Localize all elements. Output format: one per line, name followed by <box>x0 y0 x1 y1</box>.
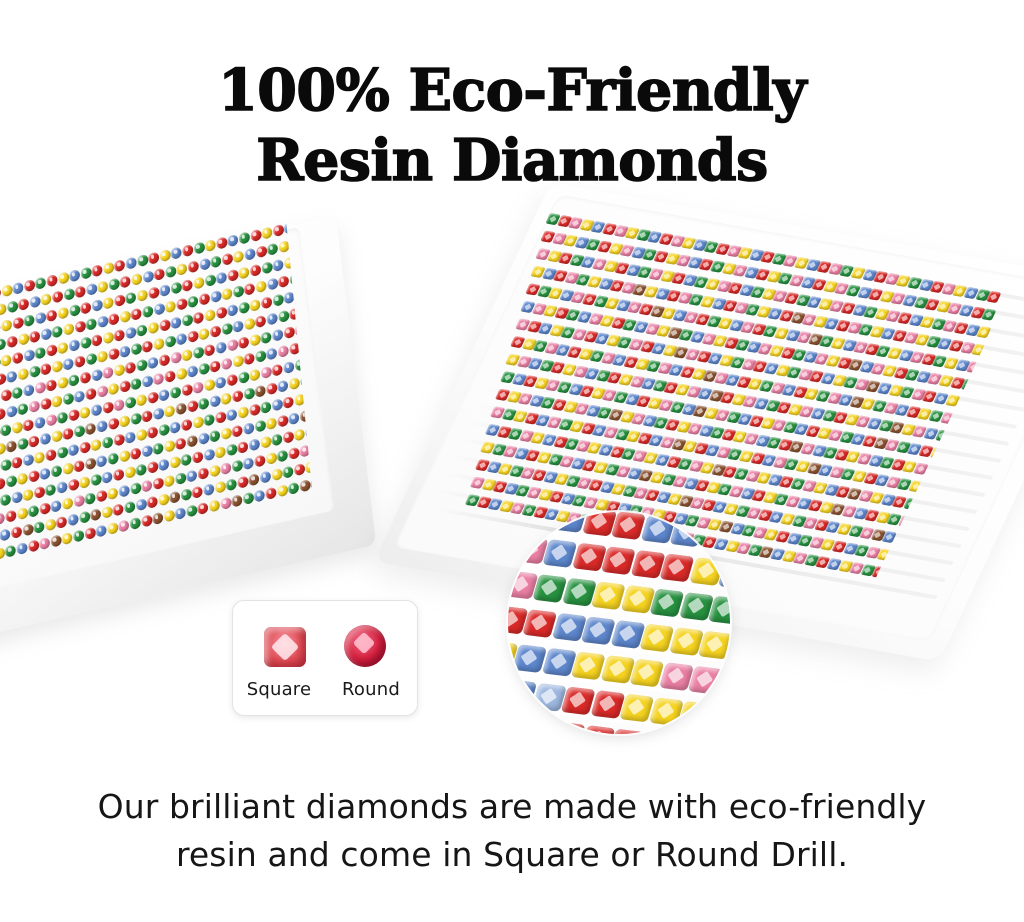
drill-bead <box>101 471 113 484</box>
drill-bead <box>85 318 97 331</box>
drill-bead <box>243 457 255 470</box>
drill-bead <box>294 428 306 441</box>
drill-bead <box>226 408 238 421</box>
drill-bead <box>147 461 159 474</box>
drill-bead <box>124 466 136 479</box>
drill-bead <box>266 313 278 326</box>
drill-bead <box>11 386 23 399</box>
drill-bead <box>192 486 204 499</box>
drill-bead <box>45 449 57 462</box>
magnified-drill-bead <box>709 512 730 516</box>
drill-bead <box>232 425 244 438</box>
drill-bead <box>125 361 137 374</box>
drill-bead <box>96 490 108 503</box>
drill-bead <box>142 340 154 353</box>
drill-bead <box>33 486 45 499</box>
drill-bead <box>0 528 11 541</box>
drill-bead <box>204 274 216 287</box>
drill-bead <box>67 478 79 491</box>
drill-bead <box>40 293 52 306</box>
drill-bead <box>147 391 159 404</box>
drill-bead <box>85 388 97 401</box>
drill-bead <box>248 438 260 451</box>
drill-bead <box>129 517 141 530</box>
drill-bead <box>84 457 96 470</box>
drill-bead <box>91 299 103 312</box>
drill-bead <box>192 381 204 394</box>
drill-bead <box>203 483 215 496</box>
drill-bead <box>141 514 153 527</box>
drill-bead <box>73 425 85 438</box>
drill-bead <box>96 455 108 468</box>
drill-bead <box>120 275 132 288</box>
drill-bead <box>130 378 142 391</box>
drill-bead <box>278 310 290 323</box>
drill-bead <box>69 304 81 317</box>
drill-bead <box>23 314 35 327</box>
drill-bead <box>221 392 233 405</box>
drill-bead <box>136 359 148 372</box>
drill-bead <box>243 387 255 400</box>
drill-bead <box>17 368 29 381</box>
drill-bead <box>158 424 170 437</box>
drill-bead <box>215 341 227 354</box>
drill-bead <box>50 500 62 513</box>
drill-bead <box>187 330 199 343</box>
drill-bead <box>57 411 69 424</box>
drill-bead <box>237 441 249 454</box>
drill-bead <box>22 454 34 467</box>
drill-bead <box>176 263 188 276</box>
drill-bead <box>135 463 147 476</box>
drill-bead <box>0 303 7 316</box>
drill-bead <box>125 292 137 305</box>
drill-bead <box>29 330 41 343</box>
drill-bead <box>153 407 165 420</box>
drill-bead <box>17 403 29 416</box>
drill-bead <box>130 343 142 356</box>
legend-round-column <box>327 625 403 667</box>
caption-line-1: Our brilliant diamonds are made with eco… <box>0 783 1024 831</box>
drill-bead <box>91 264 103 277</box>
drill-bead <box>85 422 97 435</box>
drill-bead <box>181 453 193 466</box>
drill-bead <box>181 314 193 327</box>
drill-bead <box>90 439 102 452</box>
drill-bead <box>147 356 159 369</box>
drill-bead <box>125 257 137 270</box>
drill-bead <box>238 266 250 279</box>
magnified-drill-bead <box>551 722 586 734</box>
drill-bead <box>266 347 278 360</box>
drill-bead <box>107 452 119 465</box>
drill-bead <box>18 298 30 311</box>
magnified-drill-bead <box>532 574 567 603</box>
drill-bead <box>16 542 28 555</box>
drill-bead <box>272 294 284 307</box>
drill-bead <box>176 298 188 311</box>
drill-bead <box>131 308 143 321</box>
drill-bead <box>249 299 261 312</box>
drill-bead <box>238 301 250 314</box>
magnified-drill-bead <box>669 519 704 548</box>
drill-bead <box>220 497 232 510</box>
drill-bead <box>96 385 108 398</box>
drill-bead <box>266 278 278 291</box>
drill-bead <box>22 489 34 502</box>
drill-bead <box>136 324 148 337</box>
drill-bead <box>11 526 23 539</box>
drill-bead <box>68 409 80 422</box>
drill-bead <box>33 521 45 534</box>
drill-bead <box>51 325 63 338</box>
drill-bead <box>11 421 23 434</box>
drill-bead <box>158 389 170 402</box>
drill-bead <box>152 442 164 455</box>
drill-bead <box>210 290 222 303</box>
magnified-drill-bead <box>678 701 713 730</box>
drill-bead <box>78 511 90 524</box>
drill-bead <box>239 232 251 245</box>
drill-bead <box>255 280 267 293</box>
drill-bead <box>39 432 51 445</box>
drill-bead <box>107 417 119 430</box>
drill-bead <box>197 502 209 515</box>
drill-bead <box>39 537 51 550</box>
drill-bead <box>283 361 295 374</box>
drill-bead <box>220 462 232 475</box>
drill-bead <box>113 399 125 412</box>
drill-bead <box>244 283 256 296</box>
drill-bead <box>0 354 12 367</box>
drill-bead <box>176 333 188 346</box>
drill-bead <box>51 430 63 443</box>
drill-bead <box>0 459 12 472</box>
drill-bead <box>198 432 210 445</box>
drill-bead <box>210 255 222 268</box>
drill-bead <box>233 250 245 263</box>
magnified-drill-bead <box>698 631 730 660</box>
drill-bead <box>152 512 164 525</box>
drill-bead <box>34 347 46 360</box>
drill-bead <box>45 414 57 427</box>
drill-bead <box>5 440 17 453</box>
drill-bead <box>231 460 243 473</box>
drill-bead <box>255 315 267 328</box>
drill-bead <box>23 279 35 292</box>
drill-bead <box>193 346 205 359</box>
drill-bead <box>197 467 209 480</box>
magnified-drill-bead <box>639 624 674 653</box>
drill-bead <box>214 481 226 494</box>
drill-bead <box>0 477 6 490</box>
drill-bead <box>267 243 279 256</box>
drill-bead <box>67 513 79 526</box>
drill-bead <box>204 379 216 392</box>
drill-bead <box>238 336 250 349</box>
drill-bead <box>215 306 227 319</box>
drill-bead <box>57 376 69 389</box>
drill-bead <box>187 295 199 308</box>
drill-bead <box>265 452 277 465</box>
drill-bead <box>203 414 215 427</box>
drill-bead <box>91 369 103 382</box>
drill-bead <box>45 484 57 497</box>
drill-bead <box>175 472 187 485</box>
drill-bead <box>0 408 6 421</box>
drill-bead <box>277 380 289 393</box>
drill-bead <box>16 507 28 520</box>
drill-bead <box>124 501 136 514</box>
drill-bead <box>69 269 81 282</box>
drill-bead <box>192 416 204 429</box>
drill-bead <box>74 390 86 403</box>
drill-bead <box>124 431 136 444</box>
drill-bead <box>169 421 181 434</box>
magnified-drill-closeup <box>508 512 730 734</box>
legend-label-round: Round <box>333 679 409 700</box>
drill-bead <box>255 350 267 363</box>
drill-bead <box>237 476 249 489</box>
drill-bead <box>136 289 148 302</box>
drill-bead <box>86 283 98 296</box>
drill-bead <box>73 530 85 543</box>
magnified-drill-rows <box>508 512 730 734</box>
drill-bead <box>250 264 262 277</box>
drill-bead <box>271 433 283 446</box>
drill-bead <box>227 269 239 282</box>
drill-bead <box>57 342 69 355</box>
drill-bead <box>118 450 130 463</box>
legend-label-square: Square <box>241 679 317 700</box>
drill-bead <box>108 348 120 361</box>
drill-bead <box>243 422 255 435</box>
drill-bead <box>261 296 273 309</box>
headline-line-2: Resin Diamonds <box>0 126 1024 196</box>
drill-bead <box>101 506 113 519</box>
drill-bead <box>250 229 262 242</box>
drill-bead <box>68 444 80 457</box>
drill-bead <box>233 285 245 298</box>
drill-bead <box>283 326 295 339</box>
drill-bead <box>260 401 272 414</box>
magnified-drill-bead <box>581 616 616 645</box>
drill-bead <box>193 277 205 290</box>
drill-bead <box>131 273 143 286</box>
drill-bead <box>79 441 91 454</box>
drill-bead <box>113 364 125 377</box>
drill-bead <box>163 509 175 522</box>
drill-bead <box>45 518 57 531</box>
drill-bead <box>243 352 255 365</box>
drill-bead <box>118 485 130 498</box>
magnified-drill-bead <box>629 659 664 688</box>
drill-bead <box>226 374 238 387</box>
drill-bead <box>102 331 114 344</box>
drill-bead <box>182 279 194 292</box>
drill-bead <box>11 491 23 504</box>
drill-bead <box>90 508 102 521</box>
magnified-drill-bead <box>688 666 723 695</box>
drill-bead <box>102 297 114 310</box>
drill-bead <box>28 435 40 448</box>
drill-bead <box>164 440 176 453</box>
drill-bead <box>244 248 256 261</box>
drill-bead <box>114 294 126 307</box>
drill-bead <box>61 532 73 545</box>
drill-bead <box>147 426 159 439</box>
drill-bead <box>119 310 131 323</box>
drill-bead <box>204 344 216 357</box>
drill-bead <box>40 363 52 376</box>
drill-bead <box>181 419 193 432</box>
drill-bead <box>282 431 294 444</box>
drill-bead <box>244 318 256 331</box>
drill-bead <box>0 338 7 351</box>
drill-bead <box>164 405 176 418</box>
drill-bead <box>187 365 199 378</box>
caption-text: Our brilliant diamonds are made with eco… <box>0 783 1024 879</box>
magnified-drill-bead <box>571 651 606 680</box>
magnified-drill-bead <box>649 589 684 618</box>
magnified-drill-bead <box>591 581 626 610</box>
left-tray-photo <box>0 268 362 598</box>
drill-bead <box>216 237 228 250</box>
drill-bead <box>142 270 154 283</box>
drill-bead <box>282 466 294 479</box>
drill-bead <box>260 366 272 379</box>
drill-bead <box>261 261 273 274</box>
drill-bead <box>294 463 306 476</box>
drill-bead <box>35 277 47 290</box>
drill-bead <box>23 384 35 397</box>
drill-bead <box>34 381 46 394</box>
drill-bead <box>180 488 192 501</box>
drill-bead <box>51 360 63 373</box>
headline-line-1: 100% Eco-Friendly <box>0 56 1024 126</box>
drill-bead <box>271 398 283 411</box>
drill-bead <box>154 268 166 281</box>
drill-bead <box>169 456 181 469</box>
drill-bead <box>57 307 69 320</box>
drill-bead <box>221 288 233 301</box>
drill-bead <box>62 497 74 510</box>
drill-bead <box>91 334 103 347</box>
drill-bead <box>6 300 18 313</box>
drill-bead <box>199 258 211 271</box>
drill-bead <box>192 451 204 464</box>
drill-bead <box>265 487 277 500</box>
drill-bead <box>146 496 158 509</box>
drill-bead <box>84 527 96 540</box>
drill-bead <box>107 522 119 535</box>
drill-bead <box>5 510 17 523</box>
drill-bead <box>29 295 41 308</box>
drill-bead <box>125 326 137 339</box>
drill-bead <box>186 435 198 448</box>
drill-bead <box>288 482 300 495</box>
drill-bead <box>6 370 18 383</box>
drill-bead <box>170 351 182 364</box>
drill-bead <box>159 319 171 332</box>
drill-bead <box>73 460 85 473</box>
drill-bead <box>12 282 24 295</box>
drill-bead <box>164 370 176 383</box>
caption-line-2: resin and come in Square or Round Drill. <box>0 831 1024 879</box>
drill-bead <box>237 406 249 419</box>
drill-bead <box>22 523 34 536</box>
drill-bead <box>39 467 51 480</box>
drill-bead <box>5 475 17 488</box>
drill-bead <box>159 249 171 262</box>
drill-bead <box>107 487 119 500</box>
magnified-drill-bead <box>561 687 596 716</box>
drill-bead <box>288 412 300 425</box>
drill-bead <box>63 288 75 301</box>
drill-bead <box>28 470 40 483</box>
drill-bead <box>119 380 131 393</box>
drill-bead <box>97 280 109 293</box>
drill-bead <box>260 331 272 344</box>
drill-bead <box>124 396 136 409</box>
drill-bead <box>130 412 142 425</box>
drill-bead <box>299 479 311 492</box>
drill-bead <box>108 313 120 326</box>
drill-bead <box>40 398 52 411</box>
drill-bead <box>203 448 215 461</box>
drill-bead <box>6 335 18 348</box>
drill-bead <box>141 480 153 493</box>
drill-bead <box>17 333 29 346</box>
drill-bead <box>0 389 12 402</box>
drill-bead <box>28 400 40 413</box>
drill-bead <box>80 302 92 315</box>
drill-bead <box>35 312 47 325</box>
legend-gems <box>233 601 417 667</box>
drill-bead <box>209 499 221 512</box>
drill-bead <box>153 303 165 316</box>
drill-bead <box>96 350 108 363</box>
drill-bead <box>215 376 227 389</box>
drill-bead <box>108 278 120 291</box>
drill-bead <box>135 498 147 511</box>
drill-bead <box>130 482 142 495</box>
drill-bead <box>148 287 160 300</box>
drill-bead <box>198 397 210 410</box>
drill-bead <box>277 345 289 358</box>
drill-bead <box>62 393 74 406</box>
drill-bead <box>232 320 244 333</box>
drill-bead <box>186 504 198 517</box>
drill-bead <box>243 492 255 505</box>
drill-bead <box>171 247 183 260</box>
drill-bead <box>130 447 142 460</box>
drill-bead <box>23 349 35 362</box>
drill-bead <box>288 377 300 390</box>
drill-bead <box>226 443 238 456</box>
page-title: 100% Eco-Friendly Resin Diamonds <box>0 56 1024 196</box>
drill-bead <box>34 451 46 464</box>
drill-bead <box>102 366 114 379</box>
drill-bead <box>63 323 75 336</box>
drill-bead <box>45 379 57 392</box>
drill-bead <box>103 262 115 275</box>
drill-bead <box>175 367 187 380</box>
drill-bead <box>276 484 288 497</box>
drill-bead <box>90 404 102 417</box>
drill-bead <box>28 505 40 518</box>
drill-bead <box>272 224 284 237</box>
